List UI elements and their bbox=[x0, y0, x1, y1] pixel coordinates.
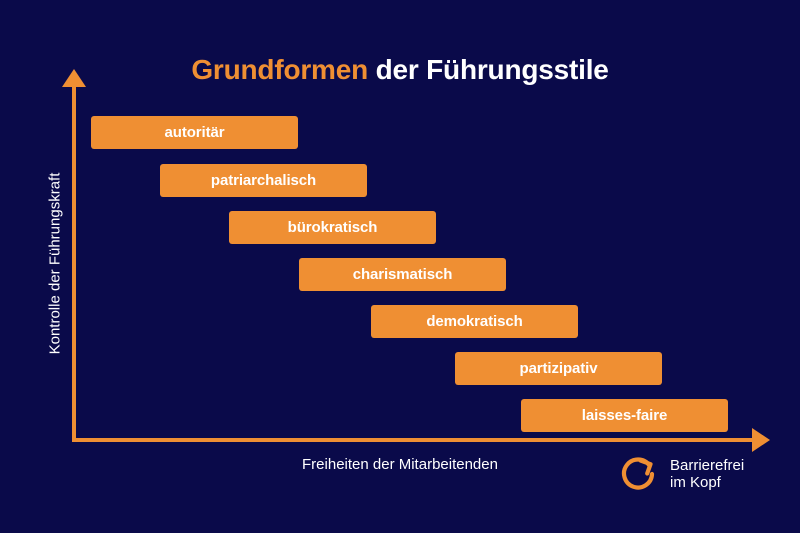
bar-charismatisch: charismatisch bbox=[299, 258, 506, 291]
bar-laisses-faire: laisses-faire bbox=[521, 399, 728, 432]
brand-logo: Barrierefrei im Kopf bbox=[618, 452, 744, 496]
bar-b-rokratisch: bürokratisch bbox=[229, 211, 436, 244]
bar-label: charismatisch bbox=[353, 266, 453, 283]
brand-logo-line1: Barrierefrei bbox=[670, 457, 744, 474]
bar-partizipativ: partizipativ bbox=[455, 352, 662, 385]
bar-label: autoritär bbox=[165, 124, 225, 141]
chart-canvas: Grundformen der Führungsstile Kontrolle … bbox=[0, 0, 800, 533]
bar-label: bürokratisch bbox=[288, 219, 378, 236]
bar-demokratisch: demokratisch bbox=[371, 305, 578, 338]
bar-label: laisses-faire bbox=[582, 407, 667, 424]
bar-label: patriarchalisch bbox=[211, 172, 316, 189]
brand-logo-text: Barrierefrei im Kopf bbox=[670, 457, 744, 492]
bar-patriarchalisch: patriarchalisch bbox=[160, 164, 367, 197]
circular-arrow-icon bbox=[618, 452, 662, 496]
brand-logo-line2: im Kopf bbox=[670, 474, 744, 491]
bar-label: partizipativ bbox=[520, 360, 598, 377]
bar-label: demokratisch bbox=[426, 313, 522, 330]
bar-autorit-r: autoritär bbox=[91, 116, 298, 149]
